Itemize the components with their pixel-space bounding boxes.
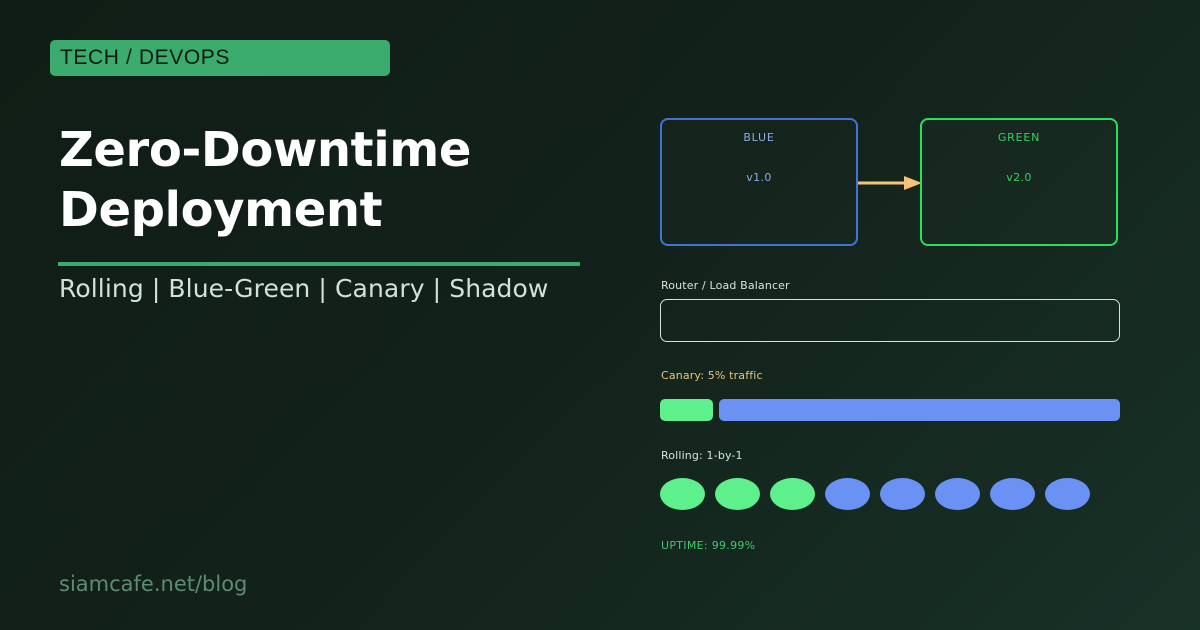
uptime-status: UPTIME: 99.99%	[661, 539, 755, 552]
rolling-label: Rolling: 1-by-1	[661, 449, 743, 462]
canary-segment-canary	[660, 399, 713, 421]
rolling-pod	[935, 478, 980, 510]
router-box	[660, 299, 1120, 342]
rolling-pod	[1045, 478, 1090, 510]
blue-environment-version: v1.0	[662, 171, 856, 184]
green-environment-box: GREEN v2.0	[920, 118, 1118, 246]
footer-url: siamcafe.net/blog	[59, 572, 247, 596]
hero-section: TECH / DEVOPS Zero-Downtime Deployment R…	[50, 40, 630, 240]
rolling-pod	[660, 478, 705, 510]
category-badge: TECH / DEVOPS	[50, 40, 390, 76]
green-environment-version: v2.0	[922, 171, 1116, 184]
rolling-pod	[880, 478, 925, 510]
arrow-right-icon	[858, 175, 922, 191]
page-title: Zero-Downtime Deployment	[50, 76, 479, 240]
rolling-pod	[825, 478, 870, 510]
router-label: Router / Load Balancer	[661, 279, 790, 292]
rolling-pod	[990, 478, 1035, 510]
title-divider	[58, 262, 580, 266]
rolling-pod	[770, 478, 815, 510]
canary-traffic-bar	[660, 399, 1120, 421]
blue-environment-box: BLUE v1.0	[660, 118, 858, 246]
poster-canvas: TECH / DEVOPS Zero-Downtime Deployment R…	[0, 0, 1200, 630]
canary-label: Canary: 5% traffic	[661, 369, 763, 382]
rolling-pod-row	[660, 478, 1122, 512]
green-environment-label: GREEN	[922, 131, 1116, 144]
blue-environment-label: BLUE	[662, 131, 856, 144]
blue-green-row: BLUE v1.0 GREEN v2.0	[660, 118, 1122, 250]
deployment-diagram: BLUE v1.0 GREEN v2.0 Router / Load Balan…	[660, 118, 1122, 250]
hero-subtitle: Rolling | Blue-Green | Canary | Shadow	[59, 274, 548, 303]
rolling-pod	[715, 478, 760, 510]
canary-segment-stable	[719, 399, 1120, 421]
